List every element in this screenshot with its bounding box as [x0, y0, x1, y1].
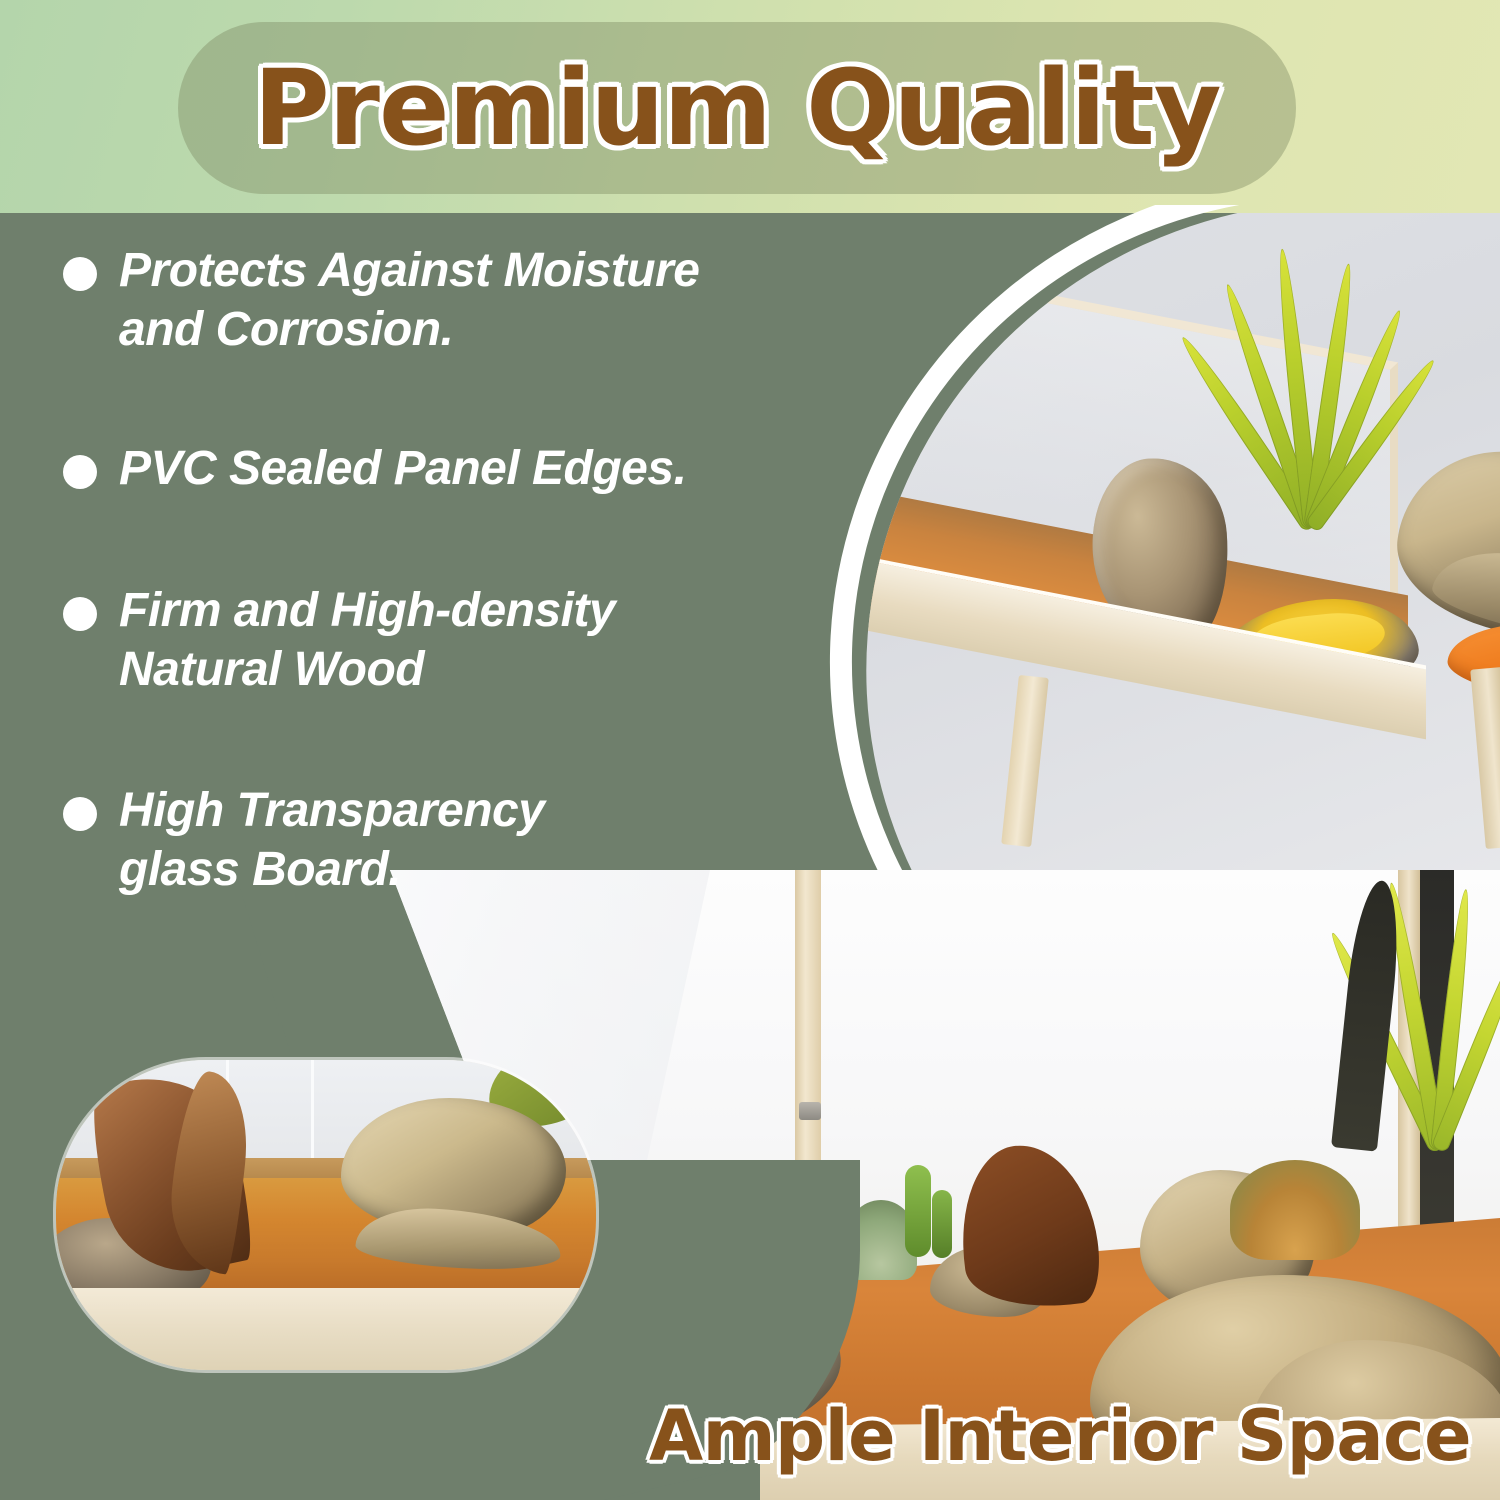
- cactus-decor-1: [905, 1165, 931, 1257]
- list-item: Protects Against Moisture and Corrosion.: [0, 241, 760, 359]
- list-item: Firm and High-density Natural Wood: [0, 581, 760, 699]
- upper-cabinet: [838, 308, 1500, 728]
- cabinet-leg-left: [1001, 675, 1049, 847]
- detail-inset-photo: [56, 1060, 596, 1370]
- bullet-dot-icon: [63, 797, 97, 831]
- cabinet-side-panel: [832, 426, 854, 660]
- cactus-decor-2: [932, 1190, 952, 1258]
- feature-label: High Transparency glass Board.: [119, 781, 544, 899]
- bottom-caption: Ample Interior Space: [620, 1392, 1500, 1480]
- feature-label: PVC Sealed Panel Edges.: [119, 439, 686, 498]
- cabinet-leg-right: [1470, 667, 1500, 849]
- feature-list: Protects Against Moisture and Corrosion.…: [0, 213, 760, 899]
- door-latch-icon: [799, 1102, 821, 1120]
- fern-plant-decor: [1168, 238, 1438, 528]
- list-item: PVC Sealed Panel Edges.: [0, 439, 760, 498]
- dry-plant-decor: [1230, 1160, 1360, 1260]
- infographic-page: Premium Quality: [0, 0, 1500, 1500]
- upper-terrarium-photo: [733, 213, 1500, 873]
- bullet-dot-icon: [63, 597, 97, 631]
- header-banner: Premium Quality: [0, 0, 1500, 216]
- inset-base-rail: [56, 1288, 596, 1370]
- feature-label: Firm and High-density Natural Wood: [119, 581, 615, 699]
- bullet-dot-icon: [63, 455, 97, 489]
- page-title: Premium Quality: [178, 22, 1296, 194]
- feature-label: Protects Against Moisture and Corrosion.: [119, 241, 700, 359]
- bullet-dot-icon: [63, 257, 97, 291]
- list-item: High Transparency glass Board.: [0, 781, 760, 899]
